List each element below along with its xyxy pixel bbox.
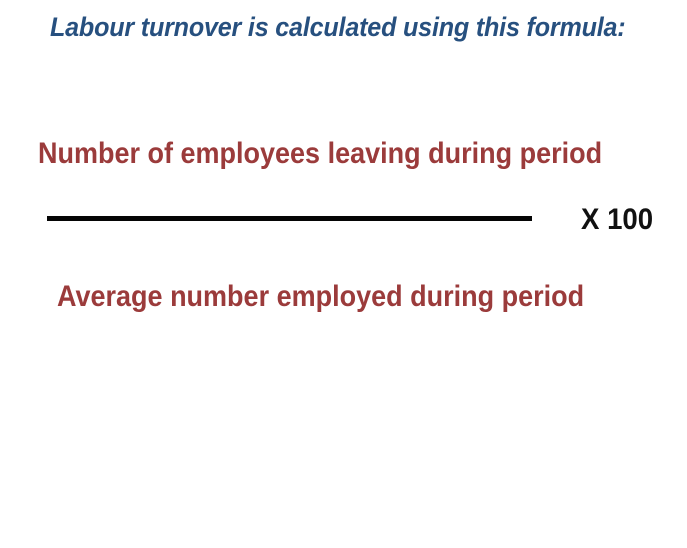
formula-numerator: Number of employees leaving during perio… (38, 136, 602, 172)
fraction-bar (47, 216, 532, 221)
formula-block: Number of employees leaving during perio… (0, 120, 687, 330)
slide-canvas: Labour turnover is calculated using this… (0, 0, 687, 548)
page-title: Labour turnover is calculated using this… (50, 10, 608, 44)
formula-multiplier: X 100 (581, 202, 653, 238)
formula-denominator: Average number employed during period (57, 279, 584, 315)
